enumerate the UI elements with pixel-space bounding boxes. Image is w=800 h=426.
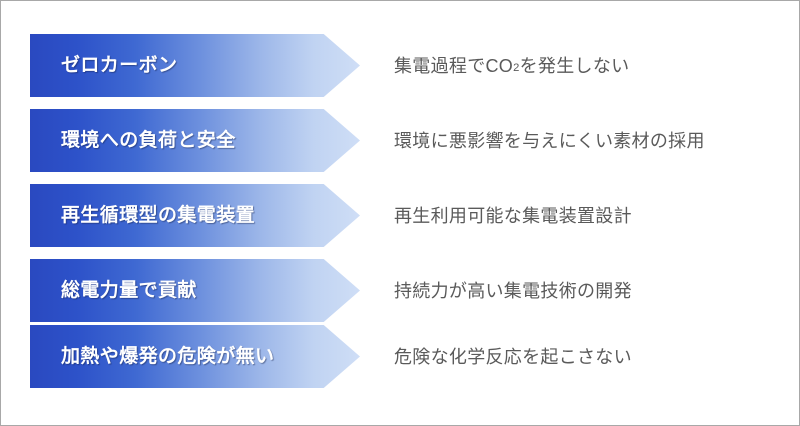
chevron-shape: 加熱や爆発の危険が無い [30,325,360,388]
row-description: 持続力が高い集電技術の開発 [394,259,632,322]
row-description: 危険な化学反応を起こさない [394,325,632,388]
chevron-row: 環境への負荷と安全 環境に悪影響を与えにくい素材の採用 [30,109,772,172]
chevron-label: 加熱や爆発の危険が無い [30,347,274,366]
chevron-label: ゼロカーボン [30,56,177,75]
description-prefix: 集電過程でCO [394,57,513,75]
chevron-label: 再生循環型の集電装置 [30,206,255,225]
chevron-shape: 環境への負荷と安全 [30,109,360,172]
diagram-canvas: ゼロカーボン 集電過程でCO2を発生しない 環境への負荷と安全 環境に悪影響を与… [0,0,800,426]
chevron-row: 総電力量で貢献 持続力が高い集電技術の開発 [30,259,772,322]
description-suffix: を発生しない [520,57,630,75]
row-description: 再生利用可能な集電装置設計 [394,184,632,247]
chevron-row: 再生循環型の集電装置 再生利用可能な集電装置設計 [30,184,772,247]
chevron-shape: 再生循環型の集電装置 [30,184,360,247]
chevron-row: 加熱や爆発の危険が無い 危険な化学反応を起こさない [30,325,772,388]
description-subscript: 2 [513,63,520,74]
chevron-label: 総電力量で貢献 [30,281,197,300]
row-description: 環境に悪影響を与えにくい素材の採用 [394,109,705,172]
chevron-shape: ゼロカーボン [30,34,360,97]
chevron-row-list: ゼロカーボン 集電過程でCO2を発生しない 環境への負荷と安全 環境に悪影響を与… [1,1,800,426]
chevron-shape: 総電力量で貢献 [30,259,360,322]
row-description: 集電過程でCO2を発生しない [394,34,629,97]
chevron-label: 環境への負荷と安全 [30,131,236,150]
chevron-row: ゼロカーボン 集電過程でCO2を発生しない [30,34,772,97]
